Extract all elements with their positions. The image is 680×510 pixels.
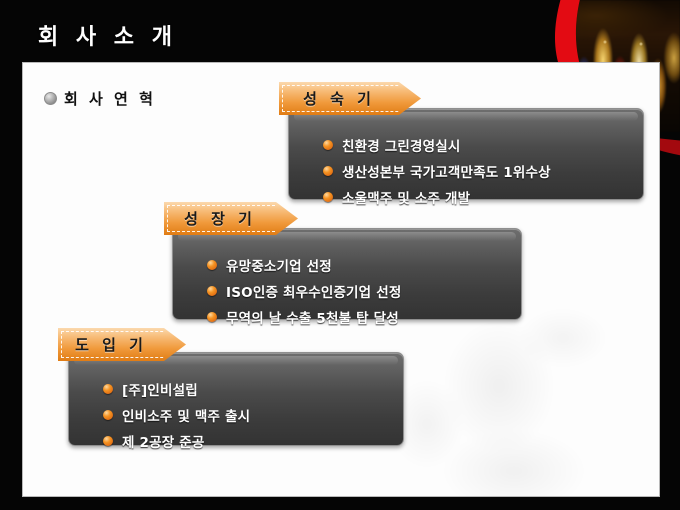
orange-bullet-icon: [323, 140, 333, 150]
list-item: ISO인증 최우수인증기업 선정: [207, 281, 521, 301]
list-item: 인비소주 및 맥주 출시: [103, 405, 403, 425]
list-item-label: 생산성본부 국가고객만족도 1위수상: [342, 161, 551, 181]
list-item-label: 제 2공장 준공: [122, 431, 205, 451]
stage-introduction-tag-label: 도 입 기: [58, 328, 164, 361]
sphere-bullet-icon: [44, 92, 57, 105]
stage-growth-panel: 유망중소기업 선정 ISO인증 최우수인증기업 선정 무역의 날 수출 5천불 …: [172, 228, 522, 320]
list-item: [주]인비설립: [103, 379, 403, 399]
orange-bullet-icon: [207, 260, 217, 270]
list-item: 무역의 날 수출 5천불 탑 달성: [207, 307, 521, 327]
list-item: 생산성본부 국가고객만족도 1위수상: [323, 161, 643, 181]
section-heading-label: 회 사 연 혁: [64, 88, 156, 109]
stage-growth-items: 유망중소기업 선정 ISO인증 최우수인증기업 선정 무역의 날 수출 5천불 …: [173, 229, 521, 319]
stage-introduction-items: [주]인비설립 인비소주 및 맥주 출시 제 2공장 준공: [69, 353, 403, 445]
list-item: 친환경 그린경영실시: [323, 135, 643, 155]
list-item-label: 소울맥주 및 소주 개발: [342, 187, 470, 207]
stage-maturity-panel: 친환경 그린경영실시 생산성본부 국가고객만족도 1위수상 소울맥주 및 소주 …: [288, 108, 644, 200]
list-item-label: 무역의 날 수출 5천불 탑 달성: [226, 307, 399, 327]
list-item: 유망중소기업 선정: [207, 255, 521, 275]
orange-bullet-icon: [103, 436, 113, 446]
orange-bullet-icon: [103, 410, 113, 420]
list-item-label: 인비소주 및 맥주 출시: [122, 405, 250, 425]
list-item-label: 친환경 그린경영실시: [342, 135, 460, 155]
list-item: 제 2공장 준공: [103, 431, 403, 451]
page-title: 회 사 소 개: [38, 19, 177, 51]
stage-maturity-items: 친환경 그린경영실시 생산성본부 국가고객만족도 1위수상 소울맥주 및 소주 …: [289, 109, 643, 199]
list-item-label: 유망중소기업 선정: [226, 255, 332, 275]
stage-maturity-tag[interactable]: 성 숙 기: [279, 82, 421, 115]
list-item-label: [주]인비설립: [122, 379, 198, 399]
list-item: 소울맥주 및 소주 개발: [323, 187, 643, 207]
section-heading: 회 사 연 혁: [44, 88, 156, 109]
stage-introduction-tag[interactable]: 도 입 기: [58, 328, 186, 361]
orange-bullet-icon: [323, 166, 333, 176]
orange-bullet-icon: [207, 312, 217, 322]
stage-introduction-panel: [주]인비설립 인비소주 및 맥주 출시 제 2공장 준공: [68, 352, 404, 446]
orange-bullet-icon: [207, 286, 217, 296]
stage-growth-tag-label: 성 장 기: [164, 202, 276, 235]
stage-growth-tag[interactable]: 성 장 기: [164, 202, 298, 235]
orange-bullet-icon: [103, 384, 113, 394]
orange-bullet-icon: [323, 192, 333, 202]
stage-maturity-tag-label: 성 숙 기: [279, 82, 399, 115]
presentation-slide: 회 사 소 개 회 사 연 혁 친환경 그린경영실시 생산성본부 국가고객만족도…: [0, 0, 680, 510]
list-item-label: ISO인증 최우수인증기업 선정: [226, 281, 401, 301]
